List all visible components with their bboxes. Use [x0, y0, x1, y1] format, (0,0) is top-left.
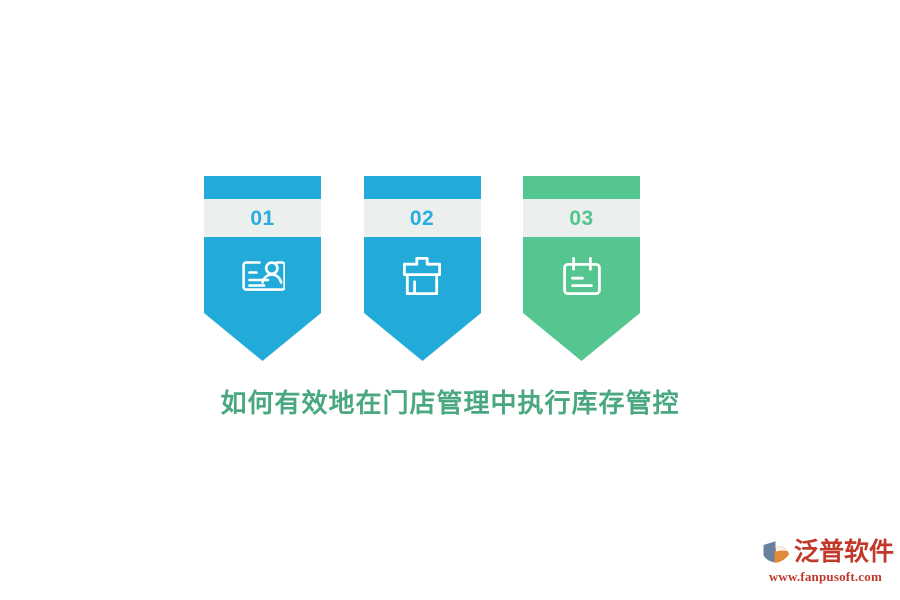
poster-canvas: 01 02: [0, 0, 900, 600]
banner-item-03[interactable]: 03: [523, 176, 640, 361]
store-icon: [364, 248, 481, 304]
banner-number-01: 01: [250, 208, 274, 229]
brand-url: www.fanpusoft.com: [762, 569, 882, 585]
banner-item-02[interactable]: 02: [364, 176, 481, 361]
banner-group: 01 02: [204, 176, 640, 361]
brand-logo[interactable]: 泛普软件 www.fanpusoft.com: [762, 536, 882, 588]
banner-number-02: 02: [410, 208, 434, 229]
banner-number-03: 03: [569, 208, 593, 229]
contact-card-icon: [204, 248, 321, 304]
fanpu-logo-icon: [762, 538, 792, 566]
brand-logo-row: 泛普软件: [762, 536, 882, 568]
banner-number-band-02: 02: [364, 199, 481, 237]
banner-number-band-01: 01: [204, 199, 321, 237]
clipboard-notes-icon: [523, 248, 640, 304]
banner-item-01[interactable]: 01: [204, 176, 321, 361]
page-title: 如何有效地在门店管理中执行库存管控: [0, 388, 900, 419]
brand-name: 泛普软件: [794, 540, 894, 565]
banner-number-band-03: 03: [523, 199, 640, 237]
